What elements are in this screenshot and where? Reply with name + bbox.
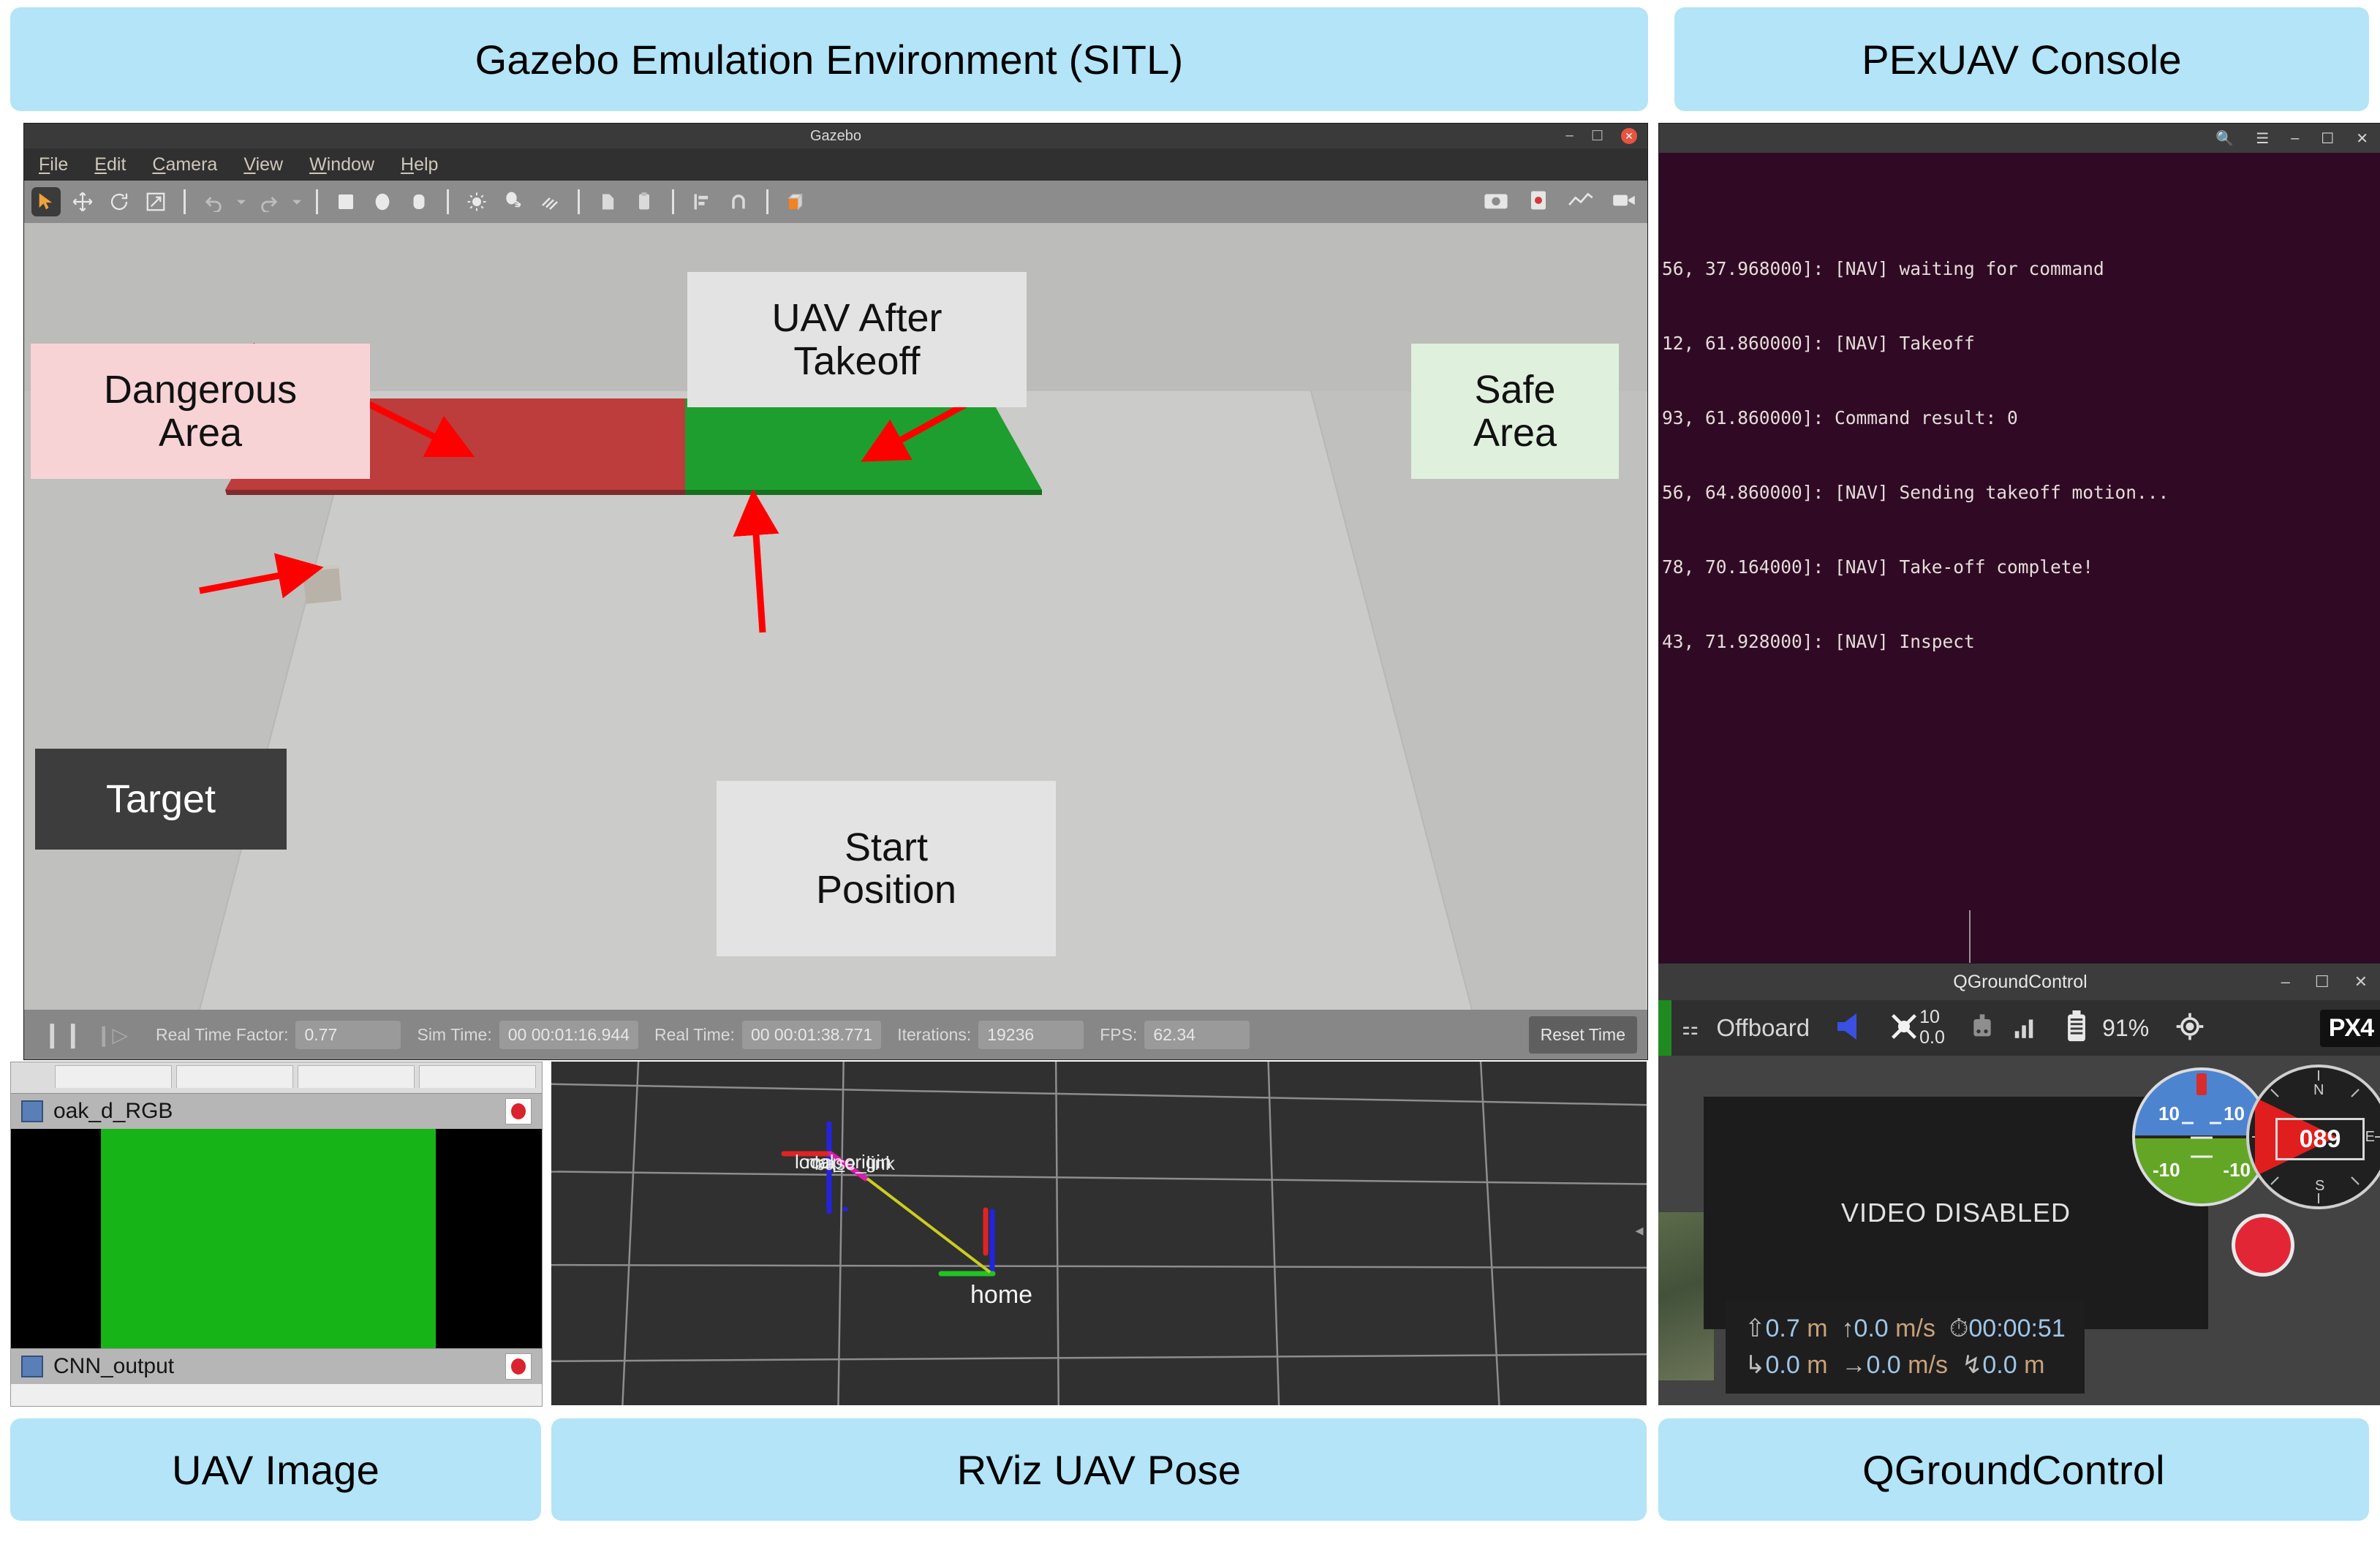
terminal-split-pane: exp_nav send_inp .126.131 10; rosrun pla… xyxy=(1662,916,2380,964)
toolbar-divider-3 xyxy=(447,189,449,214)
gazebo-menubar[interactable]: File Edit Camera View Window Help xyxy=(24,148,1647,181)
gazebo-titlebar: Gazebo – ☐ ✕ xyxy=(24,124,1647,148)
qgc-window-buttons[interactable]: – ☐ ✕ xyxy=(2281,964,2368,1000)
annotation-uav-after-takeoff: UAV After Takeoff xyxy=(687,272,1027,407)
menu-file[interactable]: File xyxy=(39,154,68,175)
annotation-safe-area-line1: Safe xyxy=(1474,368,1555,411)
undo-icon[interactable] xyxy=(199,187,228,216)
tab-3[interactable] xyxy=(298,1065,415,1088)
qgc-toolbar[interactable]: ⚏ Offboard 10 0.0 91% PX4 xyxy=(1658,1000,2380,1056)
oak-d-rgb-view xyxy=(11,1129,542,1348)
tab-1[interactable] xyxy=(55,1065,172,1088)
annotation-dangerous-area-line1: Dangerous xyxy=(104,368,297,411)
real-time-label: Real Time: xyxy=(638,1025,742,1045)
close-icon[interactable]: ✕ xyxy=(1621,128,1637,144)
heading-value: 089 xyxy=(2275,1118,2365,1160)
align-icon[interactable] xyxy=(687,187,717,216)
vertical-speed-value: 0.0 xyxy=(1854,1315,1888,1342)
video-disabled-label: VIDEO DISABLED xyxy=(1841,1198,2071,1228)
toolbar-divider-4 xyxy=(578,189,580,214)
rotate-icon[interactable] xyxy=(105,187,134,216)
rviz-grid: local_origin map base_link home xyxy=(551,1062,1647,1405)
oak-d-rgb-title: oak_d_RGB xyxy=(53,1099,173,1124)
camera-frame-content xyxy=(101,1129,435,1348)
pexuav-console-window: 🔍 ☰ – ☐ ✕ 56, 37.968000]: [NAV] waiting … xyxy=(1658,123,2380,964)
rc-icon[interactable] xyxy=(1968,1012,1997,1045)
ground-speed-unit: m/s xyxy=(1908,1351,1948,1379)
caption-rviz: RViz UAV Pose xyxy=(551,1418,1647,1521)
qgc-flight-view[interactable]: VIDEO DISABLED 10 10 -10 -10 xyxy=(1658,1056,2380,1405)
toolbar-divider-5 xyxy=(672,189,674,214)
cylinder-icon[interactable] xyxy=(404,187,434,216)
gps-icon[interactable]: 10 0.0 xyxy=(1887,1010,1921,1047)
annotation-uav-after-takeoff-line2: Takeoff xyxy=(793,340,920,382)
gazebo-window-title: Gazebo xyxy=(810,128,861,145)
sim-time-label: Sim Time: xyxy=(401,1025,499,1045)
menu-icon[interactable]: ☰ xyxy=(2256,129,2269,148)
megaphone-icon[interactable] xyxy=(1835,1010,1873,1046)
redo-icon[interactable] xyxy=(254,187,284,216)
rviz-scroll-handle[interactable]: ◂ xyxy=(1633,1220,1645,1241)
close-record-icon[interactable] xyxy=(505,1098,532,1124)
caption-qgc: QGroundControl xyxy=(1658,1418,2369,1521)
uav-image-panel: oak_d_RGB CNN_output xyxy=(10,1062,543,1407)
annotation-dangerous-area: Dangerous Area xyxy=(31,344,370,479)
annotation-target-label: Target xyxy=(106,778,216,820)
altitude-icon: ⇧ xyxy=(1745,1315,1766,1342)
plot-icon[interactable] xyxy=(1568,191,1593,213)
minimize-icon[interactable]: – xyxy=(1565,128,1574,144)
toolbar-divider xyxy=(184,189,186,214)
maximize-icon[interactable]: ☐ xyxy=(2321,129,2334,148)
vertical-speed-unit: m/s xyxy=(1895,1315,1935,1342)
battery-percent: 91% xyxy=(2102,1015,2149,1042)
ground-speed-icon: → xyxy=(1841,1351,1866,1379)
compass-label-s: S xyxy=(2315,1178,2324,1195)
annotation-safe-area: Safe Area xyxy=(1411,344,1619,479)
toolbar-divider-6 xyxy=(766,189,768,214)
annotation-dangerous-area-line2: Area xyxy=(159,412,242,454)
caption-qgc-label: QGroundControl xyxy=(1862,1446,2165,1494)
menu-edit[interactable]: Edit xyxy=(94,154,126,175)
terminal-split-divider xyxy=(1969,910,1971,964)
cnn-output-header[interactable]: CNN_output xyxy=(11,1348,542,1384)
translate-icon[interactable] xyxy=(68,187,97,216)
iterations-value: 19236 xyxy=(978,1021,1084,1049)
maximize-icon[interactable]: ☐ xyxy=(2315,972,2330,991)
qgc-titlebar: QGroundControl – ☐ ✕ xyxy=(1658,964,2380,1000)
tab-2[interactable] xyxy=(176,1065,293,1088)
copy-icon[interactable] xyxy=(593,187,622,216)
log-icon[interactable] xyxy=(1527,189,1549,215)
annotation-uav-after-takeoff-line1: UAV After xyxy=(771,297,942,339)
signal-icon: ⚏ xyxy=(1682,1017,1699,1040)
minimize-icon[interactable]: – xyxy=(2291,130,2299,147)
terminal-block-1: 56, 37.968000]: [NAV] waiting for comman… xyxy=(1662,207,2380,704)
terminal-line: 93, 61.860000]: Command result: 0 xyxy=(1662,406,2380,431)
caption-pexuav: PExUAV Console xyxy=(1674,7,2369,111)
close-icon[interactable]: ✕ xyxy=(2356,129,2368,148)
distance-icon: ↳ xyxy=(1745,1351,1766,1379)
distance-unit: m xyxy=(1807,1351,1827,1379)
image-panel-icon-2 xyxy=(21,1356,43,1377)
agl-value: 0.0 xyxy=(1982,1351,2017,1379)
tab-4[interactable] xyxy=(419,1065,536,1088)
annotation-safe-area-line2: Area xyxy=(1473,412,1557,454)
compass-mode-icon[interactable] xyxy=(2174,1010,2206,1046)
qgc-telemetry-readout: ⇧0.7 m ↑0.0 m/s ⏱00:00:51 ↳0.0 m →0.0 m/… xyxy=(1726,1301,2085,1394)
snap-icon[interactable] xyxy=(724,187,753,216)
image-panel-icon xyxy=(21,1100,43,1122)
terminal-line: 56, 64.860000]: [NAV] Sending takeoff mo… xyxy=(1662,480,2380,505)
pexuav-titlebar: 🔍 ☰ – ☐ ✕ xyxy=(1659,124,2380,153)
terminal-split-right: ated time is active. Is /clock being pub… xyxy=(1979,916,2260,964)
caption-uav-image-label: UAV Image xyxy=(172,1446,379,1494)
change-view-icon[interactable] xyxy=(782,187,811,216)
maximize-icon[interactable]: ☐ xyxy=(1591,128,1603,145)
gazebo-toolbar[interactable] xyxy=(24,181,1647,223)
battery-icon[interactable] xyxy=(2066,1010,2088,1046)
annotation-target: Target xyxy=(35,749,287,850)
close-icon[interactable]: ✕ xyxy=(2354,972,2368,991)
annotation-start-position-line1: Start xyxy=(845,826,928,869)
terminal-line: 78, 70.164000]: [NAV] Take-off complete! xyxy=(1662,555,2380,580)
menu-camera[interactable]: Camera xyxy=(152,154,217,175)
terminal-split-left: exp_nav send_inp .126.131 10; rosrun pla… xyxy=(1662,916,1969,964)
sphere-icon[interactable] xyxy=(368,187,397,216)
caption-pexuav-label: PExUAV Console xyxy=(1862,36,2182,83)
scale-icon[interactable] xyxy=(141,187,170,216)
qgroundcontrol-window: QGroundControl – ☐ ✕ ⚏ Offboard 10 0.0 9… xyxy=(1658,964,2380,1405)
reset-time-button[interactable]: Reset Time xyxy=(1529,1016,1637,1054)
rviz-uav-pose-panel[interactable]: local_origin map base_link home ◂ xyxy=(551,1062,1647,1405)
agl-unit: m xyxy=(2024,1351,2044,1379)
step-forward-icon[interactable]: ❙▷ xyxy=(91,1023,140,1047)
spot-light-icon[interactable] xyxy=(499,187,528,216)
real-time-factor-value: 0.77 xyxy=(295,1021,401,1049)
box-icon[interactable] xyxy=(331,187,360,216)
compass-label-n: N xyxy=(2313,1082,2324,1099)
gps-count: 10 xyxy=(1919,1007,1940,1028)
compass-indicator: N W E S 089 xyxy=(2246,1065,2380,1209)
iterations-label: Iterations: xyxy=(881,1025,978,1045)
search-icon[interactable]: 🔍 xyxy=(2215,129,2234,148)
agl-icon: ↯ xyxy=(1962,1351,1983,1379)
flight-mode-label[interactable]: Offboard xyxy=(1716,1014,1810,1042)
minimize-icon[interactable]: – xyxy=(2281,972,2290,991)
menu-window[interactable]: Window xyxy=(309,154,374,175)
undo-dropdown-icon[interactable] xyxy=(235,187,247,216)
svg-text:base_link: base_link xyxy=(815,1152,896,1174)
flight-time-value: 00:00:51 xyxy=(1968,1315,2065,1342)
annotation-start-position: Start Position xyxy=(717,781,1056,956)
select-arrow-icon[interactable] xyxy=(31,187,61,216)
terminal-line: 56, 37.968000]: [NAV] waiting for comman… xyxy=(1662,257,2380,281)
qgc-status-indicator xyxy=(1658,1000,1671,1056)
terminal-line: 12, 61.860000]: [NAV] Takeoff xyxy=(1662,331,2380,356)
real-time-value: 00 00:01:38.771 xyxy=(742,1021,881,1049)
fps-value: 62.34 xyxy=(1144,1021,1250,1049)
altitude-unit: m xyxy=(1807,1315,1827,1342)
annotation-start-position-line2: Position xyxy=(816,869,956,911)
distance-value: 0.0 xyxy=(1766,1351,1800,1379)
rviz-display-tabs[interactable] xyxy=(11,1062,542,1093)
gazebo-status-bar: ❙❙ ❙▷ Real Time Factor: 0.77 Sim Time: 0… xyxy=(24,1010,1647,1059)
real-time-factor-label: Real Time Factor: xyxy=(140,1025,296,1045)
fps-label: FPS: xyxy=(1084,1025,1144,1045)
record-button-icon[interactable] xyxy=(2232,1214,2294,1277)
pexuav-terminal-body[interactable]: 56, 37.968000]: [NAV] waiting for comman… xyxy=(1659,153,2380,964)
directional-light-icon[interactable] xyxy=(535,187,564,216)
caption-gazebo-label: Gazebo Emulation Environment (SITL) xyxy=(475,36,1184,83)
menu-view[interactable]: View xyxy=(243,154,283,175)
altitude-value: 0.7 xyxy=(1766,1315,1800,1342)
screenshot-icon[interactable] xyxy=(1484,190,1508,214)
pause-icon[interactable]: ❙❙ xyxy=(34,1020,91,1049)
caption-rviz-label: RViz UAV Pose xyxy=(957,1446,1242,1494)
point-light-icon[interactable] xyxy=(462,187,491,216)
menu-help[interactable]: Help xyxy=(401,154,438,175)
telemetry-row-2: ↳0.0 m →0.0 m/s ↯0.0 m xyxy=(1745,1347,2066,1383)
paste-icon[interactable] xyxy=(630,187,659,216)
vertical-speed-icon: ↑ xyxy=(1841,1315,1854,1342)
close-record-icon-2[interactable] xyxy=(505,1353,532,1380)
sim-time-value: 00 00:01:16.944 xyxy=(499,1021,638,1049)
rviz-frame-label-home: home xyxy=(970,1281,1032,1309)
telemetry-icon[interactable] xyxy=(2011,1013,2039,1044)
gazebo-toolbar-right[interactable] xyxy=(1484,189,1636,215)
caption-gazebo: Gazebo Emulation Environment (SITL) xyxy=(10,7,1648,111)
record-dot-icon-2 xyxy=(511,1358,526,1375)
flight-time-icon: ⏱ xyxy=(1949,1315,1969,1342)
ground-speed-value: 0.0 xyxy=(1866,1351,1900,1379)
oak-d-rgb-header[interactable]: oak_d_RGB xyxy=(11,1093,542,1129)
px4-brand-logo: PX4 xyxy=(2320,1010,2380,1047)
gazebo-window-buttons[interactable]: – ☐ ✕ xyxy=(1565,124,1637,148)
qgc-instrument-cluster: 10 10 -10 -10 xyxy=(2132,1063,2373,1209)
compass-label-e: E xyxy=(2365,1129,2375,1146)
cnn-output-title: CNN_output xyxy=(53,1354,174,1379)
qgc-window-title: QGroundControl xyxy=(1953,972,2087,993)
toolbar-divider-2 xyxy=(316,189,318,214)
video-icon[interactable] xyxy=(1612,191,1636,213)
telemetry-row-1: ⇧0.7 m ↑0.0 m/s ⏱00:00:51 xyxy=(1745,1311,2066,1347)
record-dot-icon xyxy=(511,1103,526,1119)
terminal-line: 43, 71.928000]: [NAV] Inspect xyxy=(1662,630,2380,654)
redo-dropdown-icon[interactable] xyxy=(291,187,303,216)
gps-hdop: 0.0 xyxy=(1919,1027,1945,1048)
caption-uav-image: UAV Image xyxy=(10,1418,541,1521)
